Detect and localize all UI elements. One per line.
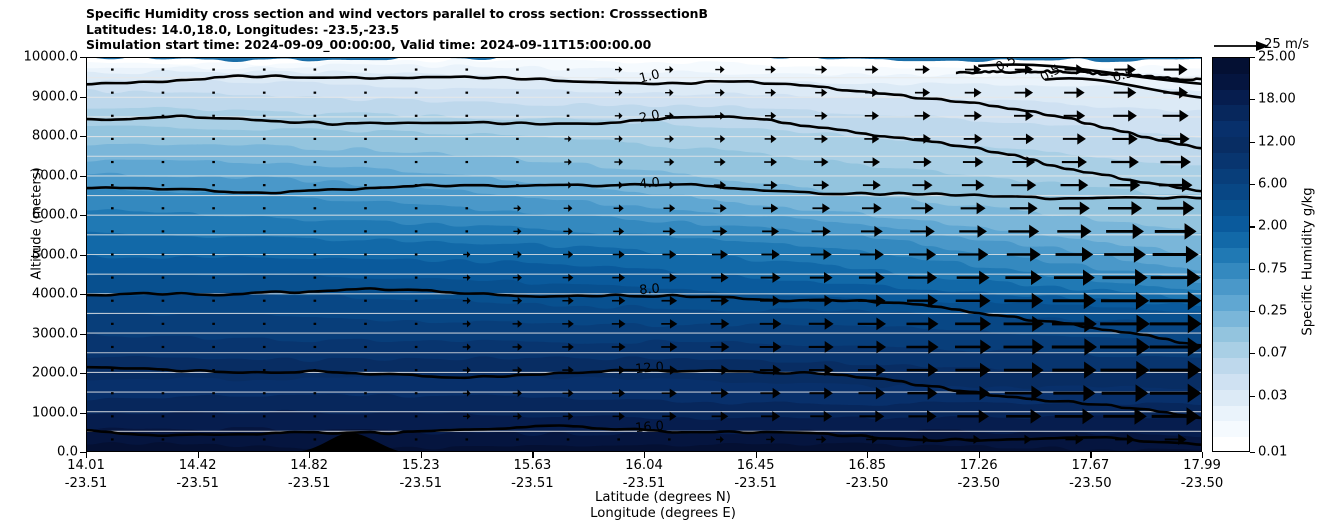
contour-label: 12.0 — [635, 360, 665, 377]
colorbar-band — [1213, 74, 1249, 90]
colorbar-band — [1213, 421, 1249, 437]
colorbar-tick-mark — [1250, 353, 1255, 354]
title-line-1: Specific Humidity cross section and wind… — [86, 6, 708, 22]
x-axis-label-latitude: Latitude (degrees N) — [0, 490, 1326, 505]
colorbar-tick-label: 12.00 — [1258, 134, 1296, 149]
colorbar-band — [1213, 153, 1249, 169]
x-tick-label-latitude: 15.63 — [514, 458, 552, 473]
title-line-3: Simulation start time: 2024-09-09_00:00:… — [86, 37, 708, 53]
contour-label: 2.0 — [638, 107, 661, 126]
x-tick-label-latitude: 17.67 — [1072, 458, 1110, 473]
y-tick-mark — [80, 97, 86, 98]
colorbar-band — [1213, 90, 1249, 106]
y-tick-mark — [80, 255, 86, 256]
contour-label: 0.5 — [1111, 66, 1135, 86]
colorbar-band — [1213, 184, 1249, 200]
colorbar-tick-label: 18.00 — [1258, 92, 1296, 107]
x-tick-label-latitude: 14.01 — [67, 458, 105, 473]
y-tick-label: 4000.0 — [0, 287, 78, 302]
x-tick-label-latitude: 16.85 — [848, 458, 886, 473]
y-tick-label: 9000.0 — [0, 89, 78, 104]
colorbar-tick-mark — [1250, 57, 1255, 58]
y-tick-label: 3000.0 — [0, 326, 78, 341]
y-tick-mark — [80, 334, 86, 335]
colorbar-tick-mark — [1250, 311, 1255, 312]
y-tick-mark — [80, 215, 86, 216]
colorbar-tick-label: 0.25 — [1258, 303, 1287, 318]
y-tick-mark — [80, 413, 86, 414]
y-tick-mark — [80, 136, 86, 137]
title-line-2: Latitudes: 14.0,18.0, Longitudes: -23.5,… — [86, 22, 708, 38]
figure-title: Specific Humidity cross section and wind… — [86, 6, 708, 53]
contour-label: 4.0 — [639, 175, 661, 192]
colorbar-band — [1213, 327, 1249, 343]
colorbar-tick-mark — [1250, 184, 1255, 185]
colorbar-band — [1213, 263, 1249, 279]
y-tick-label: 1000.0 — [0, 405, 78, 420]
contour-label-layer: 0.50.50.51.02.04.08.012.016.0 — [87, 58, 1201, 451]
colorbar-tick-label: 25.00 — [1258, 50, 1296, 65]
colorbar — [1212, 57, 1250, 452]
x-tick-label-longitude: -23.51 — [176, 476, 219, 491]
colorbar-band — [1213, 295, 1249, 311]
colorbar-tick-mark — [1250, 269, 1255, 270]
colorbar-band — [1213, 216, 1249, 232]
x-tick-label-latitude: 16.45 — [737, 458, 775, 473]
colorbar-band — [1213, 248, 1249, 264]
y-tick-mark — [80, 373, 86, 374]
y-tick-mark — [80, 57, 86, 58]
x-tick-label-longitude: -23.50 — [1181, 476, 1224, 491]
y-tick-label: 5000.0 — [0, 247, 78, 262]
colorbar-band — [1213, 279, 1249, 295]
colorbar-tick-mark — [1250, 142, 1255, 143]
x-tick-label-longitude: -23.51 — [734, 476, 777, 491]
contour-label: 8.0 — [639, 282, 661, 299]
colorbar-tick-label: 0.07 — [1258, 346, 1287, 361]
contour-label: 16.0 — [635, 419, 665, 436]
x-axis-label-longitude: Longitude (degrees E) — [0, 506, 1326, 521]
colorbar-band — [1213, 137, 1249, 153]
x-tick-label-latitude: 17.99 — [1183, 458, 1221, 473]
colorbar-tick-label: 6.00 — [1258, 176, 1287, 191]
x-tick-label-longitude: -23.51 — [400, 476, 443, 491]
colorbar-band — [1213, 311, 1249, 327]
x-tick-label-longitude: -23.50 — [846, 476, 889, 491]
colorbar-band — [1213, 358, 1249, 374]
colorbar-tick-mark — [1250, 452, 1255, 453]
x-tick-label-longitude: -23.51 — [65, 476, 108, 491]
x-tick-label-longitude: -23.50 — [1069, 476, 1112, 491]
colorbar-band — [1213, 406, 1249, 422]
x-tick-label-latitude: 15.23 — [402, 458, 440, 473]
colorbar-band — [1213, 437, 1249, 452]
y-tick-label: 7000.0 — [0, 168, 78, 183]
x-tick-label-longitude: -23.51 — [288, 476, 331, 491]
x-tick-label-latitude: 14.42 — [179, 458, 217, 473]
colorbar-band — [1213, 121, 1249, 137]
colorbar-band — [1213, 58, 1249, 74]
y-tick-mark — [80, 294, 86, 295]
x-tick-label-longitude: -23.51 — [511, 476, 554, 491]
colorbar-tick-mark — [1250, 396, 1255, 397]
colorbar-band — [1213, 390, 1249, 406]
x-tick-label-latitude: 17.26 — [960, 458, 998, 473]
contour-label: 0.5 — [1038, 62, 1063, 85]
colorbar-band — [1213, 105, 1249, 121]
colorbar-tick-mark — [1250, 99, 1255, 100]
y-tick-label: 8000.0 — [0, 129, 78, 144]
colorbar-band — [1213, 232, 1249, 248]
figure-canvas: Specific Humidity cross section and wind… — [0, 0, 1326, 526]
contour-label: 0.5 — [993, 58, 1018, 75]
colorbar-band — [1213, 200, 1249, 216]
x-tick-label-latitude: 16.04 — [625, 458, 663, 473]
x-tick-label-longitude: -23.51 — [623, 476, 666, 491]
colorbar-tick-mark — [1250, 226, 1255, 227]
colorbar-tick-label: 0.75 — [1258, 261, 1287, 276]
colorbar-tick-label: 0.03 — [1258, 388, 1287, 403]
contour-label: 1.0 — [638, 67, 662, 87]
y-tick-label: 10000.0 — [0, 50, 78, 65]
colorbar-tick-label: 0.01 — [1258, 445, 1287, 460]
cross-section-plot: 0.50.50.51.02.04.08.012.016.0 — [86, 57, 1202, 452]
colorbar-label: Specific Humidity g/kg — [1301, 152, 1316, 372]
colorbar-band — [1213, 342, 1249, 358]
y-tick-label: 2000.0 — [0, 366, 78, 381]
colorbar-band — [1213, 374, 1249, 390]
colorbar-tick-label: 2.00 — [1258, 219, 1287, 234]
colorbar-band — [1213, 169, 1249, 185]
x-tick-label-longitude: -23.50 — [958, 476, 1001, 491]
y-tick-mark — [80, 176, 86, 177]
y-tick-label: 6000.0 — [0, 208, 78, 223]
x-tick-label-latitude: 14.82 — [290, 458, 328, 473]
